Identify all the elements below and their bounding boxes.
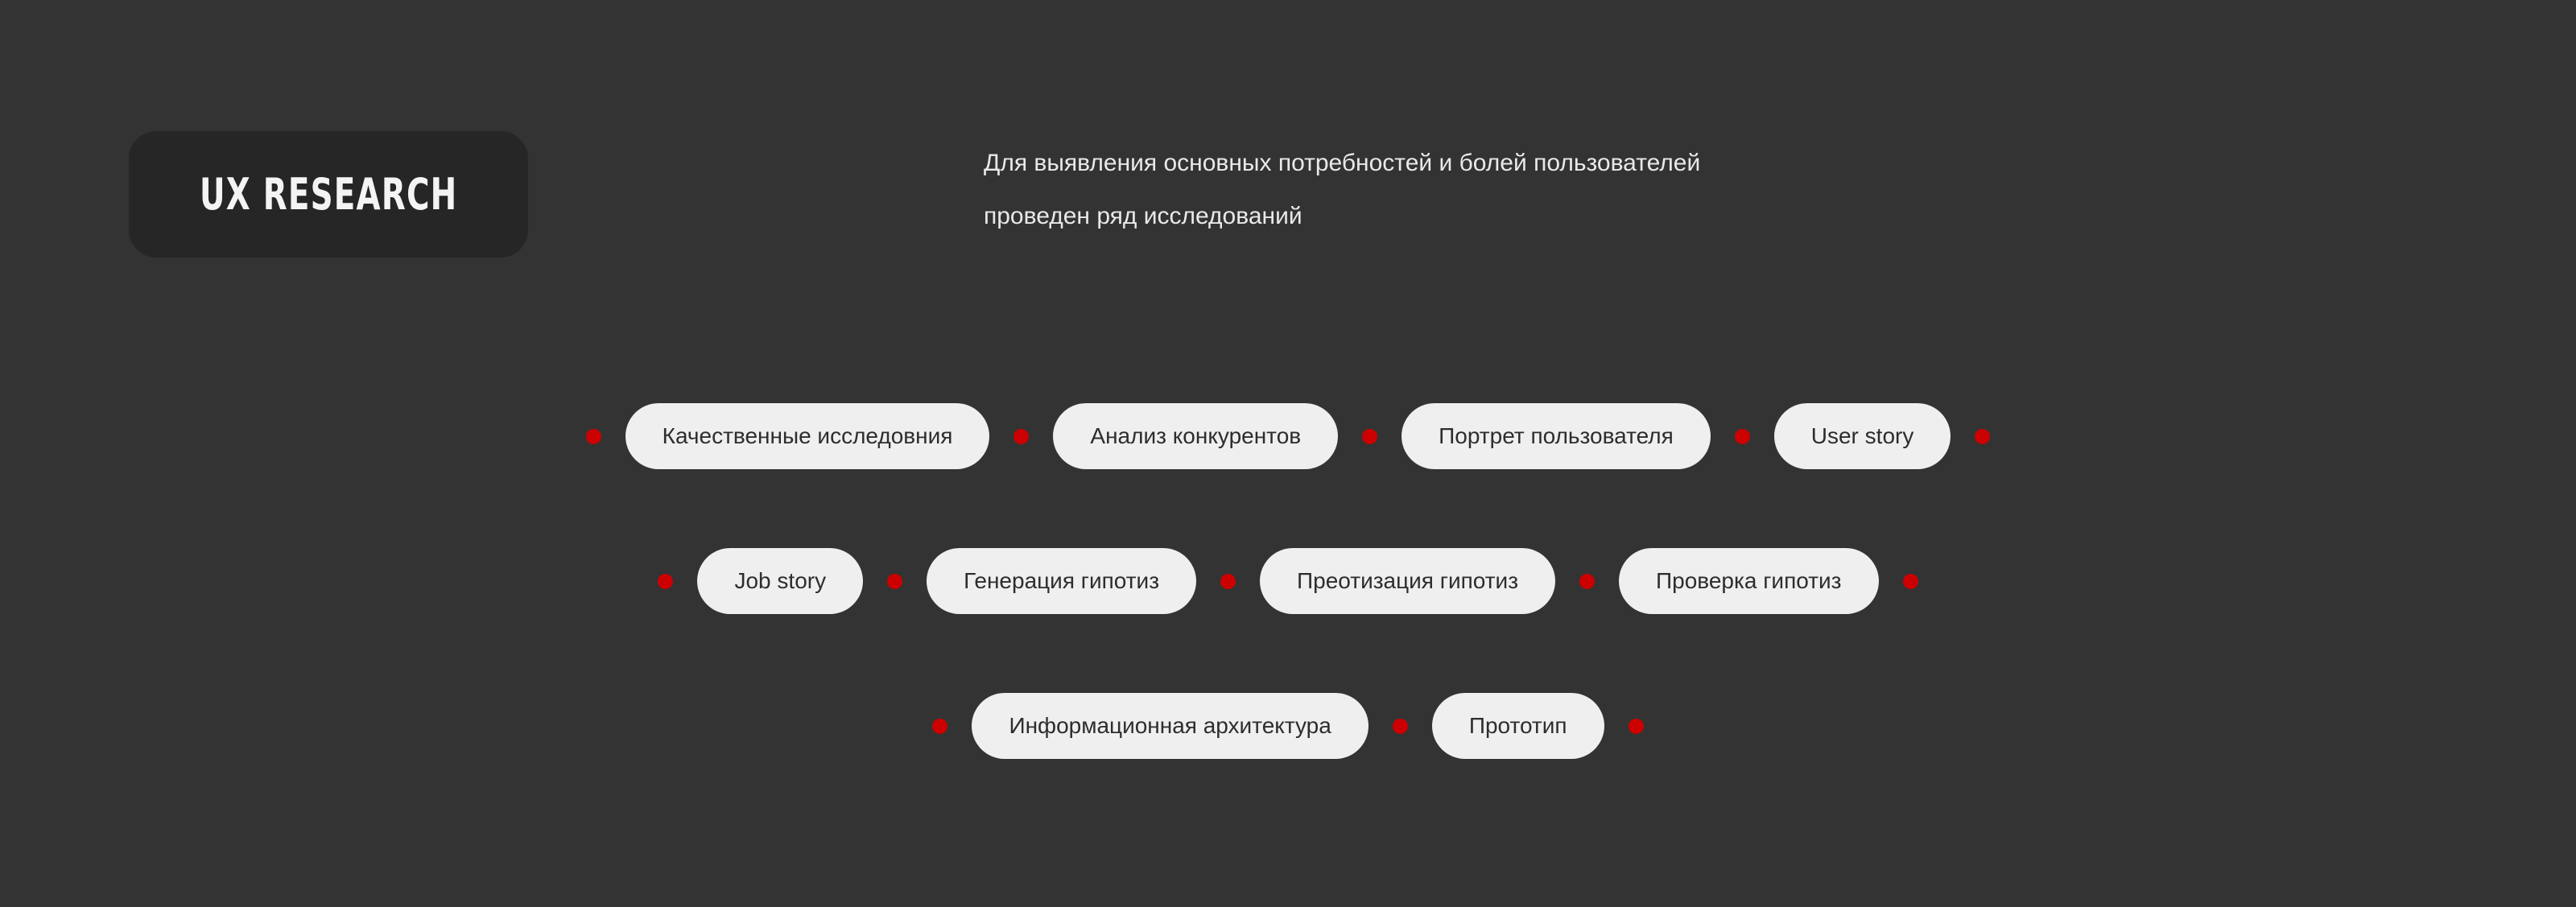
ux-research-section: UX RESEARCH Для выявления основных потре… (0, 0, 2576, 907)
ux-research-badge-label: UX RESEARCH (200, 169, 457, 220)
bullet-dot-icon (887, 574, 902, 589)
section-subtitle: Для выявления основных потребностей и бо… (984, 137, 2127, 243)
bullet-dot-icon (1975, 429, 1990, 444)
research-steps-row: Качественные исследовнияАнализ конкурент… (0, 364, 2576, 509)
research-step-pill[interactable]: User story (1774, 403, 1951, 469)
research-step-label: Генерация гипотиз (964, 568, 1159, 594)
bullet-dot-icon (1220, 574, 1236, 589)
research-step-pill[interactable]: Job story (697, 548, 863, 614)
bullet-dot-icon (1735, 429, 1750, 444)
research-step-pill[interactable]: Проверка гипотиз (1619, 548, 1878, 614)
bullet-dot-icon (1629, 719, 1644, 734)
research-steps-list: Качественные исследовнияАнализ конкурент… (0, 364, 2576, 798)
research-step-label: Job story (734, 568, 826, 594)
bullet-dot-icon (586, 429, 601, 444)
research-step-label: Портрет пользователя (1439, 423, 1674, 449)
bullet-dot-icon (932, 719, 947, 734)
subtitle-line-2: проведен ряд исследований (984, 190, 2127, 243)
research-step-label: Преотизация гипотиз (1297, 568, 1518, 594)
research-step-pill[interactable]: Преотизация гипотиз (1260, 548, 1555, 614)
bullet-dot-icon (1579, 574, 1595, 589)
bullet-dot-icon (1013, 429, 1029, 444)
research-step-label: User story (1811, 423, 1914, 449)
research-step-pill[interactable]: Портрет пользователя (1402, 403, 1711, 469)
bullet-dot-icon (1362, 429, 1377, 444)
bullet-dot-icon (1903, 574, 1918, 589)
research-step-pill[interactable]: Качественные исследовния (625, 403, 990, 469)
research-steps-row: Job storyГенерация гипотизПреотизация ги… (0, 509, 2576, 653)
research-step-pill[interactable]: Прототип (1432, 693, 1604, 759)
section-header: UX RESEARCH Для выявления основных потре… (0, 0, 2576, 290)
ux-research-badge: UX RESEARCH (129, 131, 528, 258)
research-step-pill[interactable]: Генерация гипотиз (927, 548, 1196, 614)
research-step-label: Анализ конкурентов (1090, 423, 1301, 449)
research-step-pill[interactable]: Информационная архитектура (972, 693, 1368, 759)
bullet-dot-icon (1393, 719, 1408, 734)
research-step-pill[interactable]: Анализ конкурентов (1053, 403, 1338, 469)
research-step-label: Качественные исследовния (663, 423, 953, 449)
bullet-dot-icon (658, 574, 673, 589)
subtitle-line-1: Для выявления основных потребностей и бо… (984, 137, 2127, 190)
research-step-label: Прототип (1469, 713, 1567, 739)
research-steps-row: Информационная архитектураПрототип (0, 653, 2576, 798)
research-step-label: Проверка гипотиз (1656, 568, 1841, 594)
research-step-label: Информационная архитектура (1009, 713, 1331, 739)
